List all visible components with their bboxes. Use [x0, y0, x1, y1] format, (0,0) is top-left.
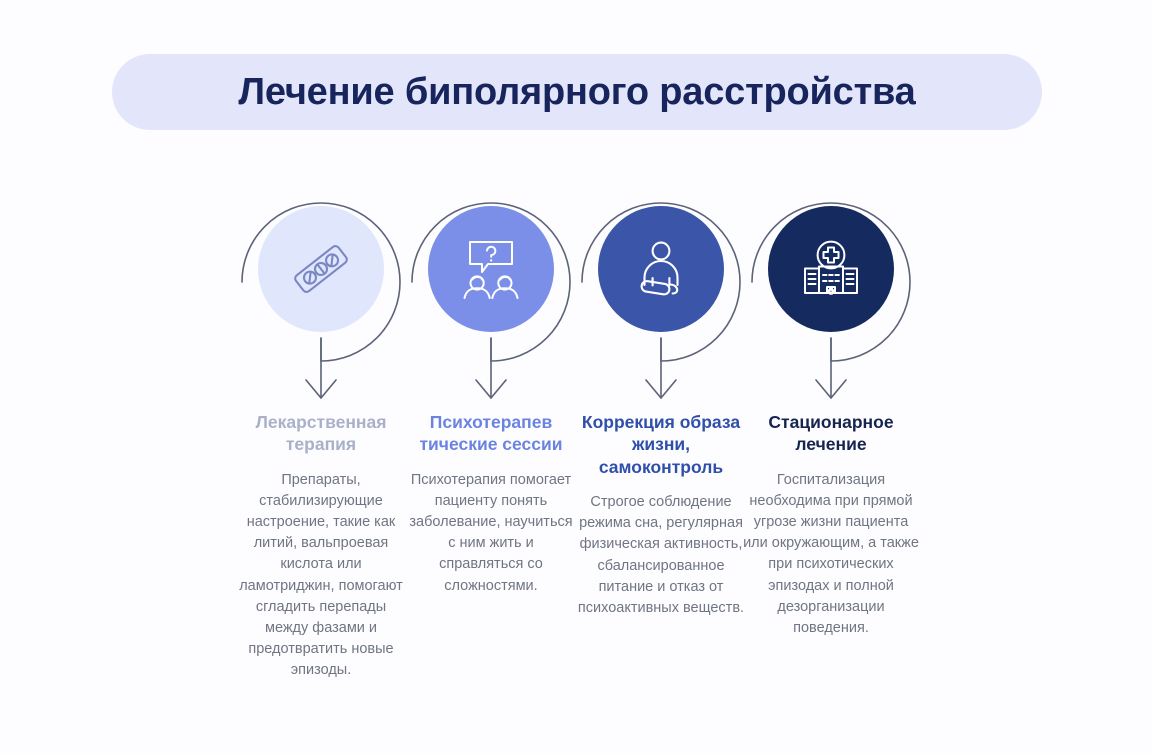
step-text-block: Психотерапев тические сессии Психотерапи…: [409, 411, 573, 597]
step-psychotherapy: Психотерапев тические сессии Психотерапи…: [406, 186, 576, 597]
step-node: [236, 186, 406, 401]
steps-row: Лекарственная терапия Препараты, стабили…: [236, 186, 916, 726]
step-title: Лекарственная терапия: [235, 411, 407, 456]
two-people-question-bubble-icon: [458, 236, 524, 302]
step-node: [576, 186, 746, 401]
step-text-block: Стационарное лечение Госпитализация необ…: [742, 411, 920, 639]
meditating-person-icon: [630, 238, 692, 300]
step-title: Коррекция образа жизни, самоконтроль: [573, 411, 749, 478]
infographic-canvas: Лечение биполярного расстройства: [0, 0, 1152, 753]
step-body: Госпитализация необходима при прямой угр…: [742, 470, 920, 639]
step-lifestyle: Коррекция образа жизни, самоконтроль Стр…: [576, 186, 746, 619]
page-title: Лечение биполярного расстройства: [238, 71, 915, 114]
pill-blister-pack-icon: [290, 238, 352, 300]
page-title-pill: Лечение биполярного расстройства: [112, 54, 1042, 130]
step-icon-circle: [428, 206, 554, 332]
step-medication: Лекарственная терапия Препараты, стабили…: [236, 186, 406, 681]
step-title: Стационарное лечение: [742, 411, 920, 456]
step-text-block: Лекарственная терапия Препараты, стабили…: [235, 411, 407, 681]
step-icon-circle: [598, 206, 724, 332]
step-hospitalization: Стационарное лечение Госпитализация необ…: [746, 186, 916, 639]
step-node: [746, 186, 916, 401]
step-body: Строгое соблюдение режима сна, регулярна…: [573, 492, 749, 619]
step-node: [406, 186, 576, 401]
step-body: Психотерапия помогает пациенту понять за…: [409, 470, 573, 597]
step-text-block: Коррекция образа жизни, самоконтроль Стр…: [573, 411, 749, 619]
step-body: Препараты, стабилизирующие настроение, т…: [235, 470, 407, 682]
hospital-building-icon: [799, 237, 863, 301]
step-icon-circle: [258, 206, 384, 332]
step-icon-circle: [768, 206, 894, 332]
step-title: Психотерапев тические сессии: [409, 411, 573, 456]
